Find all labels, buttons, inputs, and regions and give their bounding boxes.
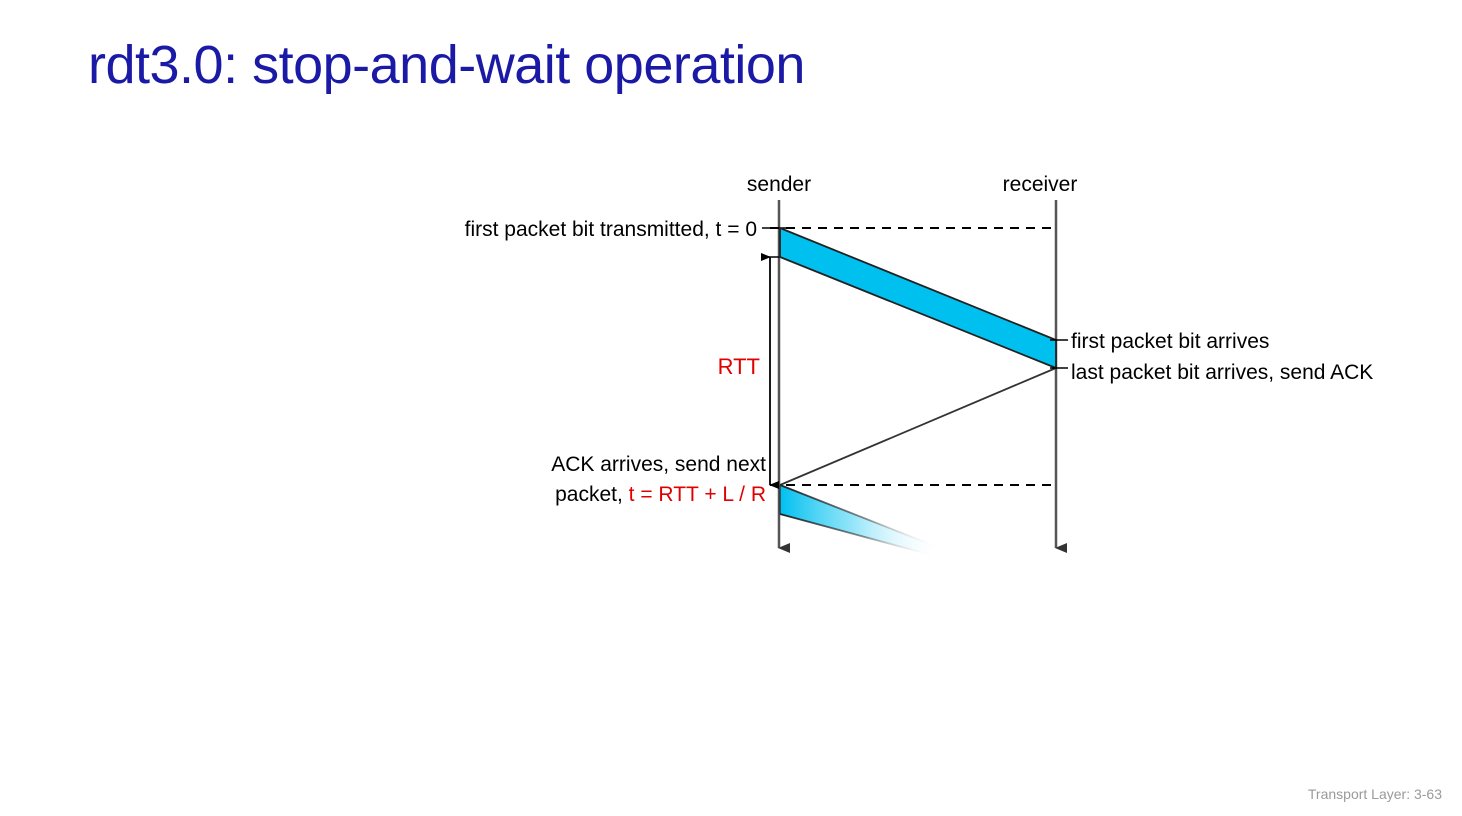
last-arrives-label: last packet bit arrives, send ACK [1071, 361, 1373, 384]
receiver-label: receiver [1003, 173, 1078, 196]
ack-arrives-label-line2: packet, t = RTT + L / R [555, 483, 766, 506]
sender-label: sender [747, 173, 811, 196]
slide-canvas: rdt3.0: stop-and-wait operation [0, 0, 1462, 816]
ack-label-formula: t = RTT + L / R [629, 483, 766, 506]
ack-label-packet-text: packet, [555, 483, 629, 506]
ack-transmission-line [780, 368, 1056, 485]
first-packet-shape [780, 228, 1056, 368]
first-transmit-label: first packet bit transmitted, t = 0 [465, 218, 757, 241]
rtt-label: RTT [718, 354, 760, 379]
stop-and-wait-timing-diagram: sender receiver RTT first packet bit tra… [0, 0, 1462, 816]
slide-footer: Transport Layer: 3-63 [1308, 786, 1442, 802]
first-arrives-label: first packet bit arrives [1071, 330, 1269, 353]
ack-arrives-label-line1: ACK arrives, send next [551, 453, 766, 476]
